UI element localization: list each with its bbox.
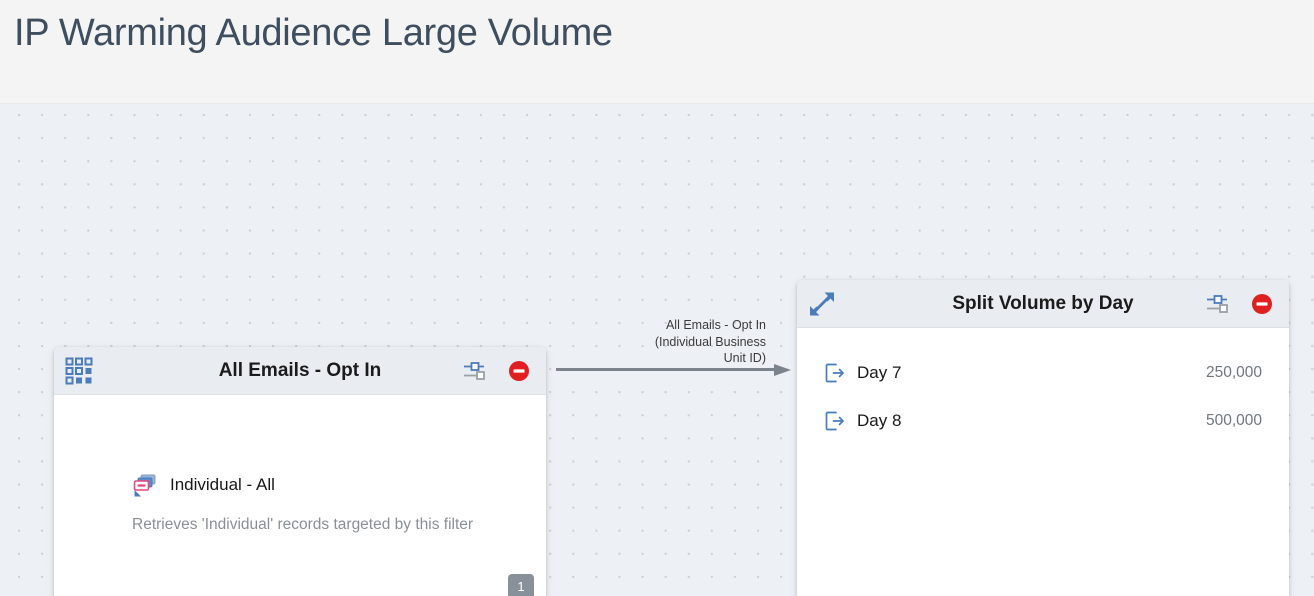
connector-line [556,368,778,371]
node-header-audience: All Emails - Opt In [54,347,546,395]
exit-box-icon [824,362,846,384]
list-item[interactable]: Day 8 500,000 [797,397,1289,445]
exit-box-icon [824,410,846,432]
sliders-icon[interactable] [1206,293,1230,315]
split-row-name: Day 7 [857,363,901,383]
expand-arrows-icon[interactable] [807,289,837,319]
data-extension-row[interactable]: Individual - All [132,473,275,497]
split-row-value: 500,000 [1206,412,1262,430]
node-card-split[interactable]: Split Volume by Day [797,280,1289,596]
list-item[interactable]: Day 7 250,000 [797,349,1289,397]
sliders-icon[interactable] [463,360,487,382]
page-header: IP Warming Audience Large Volume [0,0,1314,104]
connector-label-line-1: All Emails - Opt In [606,317,766,334]
connector-label-line-3: Unit ID) [606,350,766,367]
connector-label-line-2: (Individual Business [606,334,766,351]
split-row-name: Day 8 [857,411,901,431]
connector-arrowhead [774,364,791,376]
remove-circle-icon[interactable] [508,360,530,382]
node-body-audience: Individual - All Retrieves 'Individual' … [54,395,546,596]
node-card-audience[interactable]: All Emails - Opt In [54,347,546,596]
count-badge: 1 [508,574,534,596]
node-header-split: Split Volume by Day [797,280,1289,328]
data-extension-description: Retrieves 'Individual' records targeted … [132,516,473,534]
split-row-value: 250,000 [1206,364,1262,382]
node-body-split: Day 7 250,000 Day 8 500,000 1 [797,328,1289,596]
grid-squares-icon[interactable] [64,356,94,386]
data-extension-label: Individual - All [170,475,275,495]
data-extension-icon [132,473,158,497]
split-rows-list: Day 7 250,000 Day 8 500,000 [797,328,1289,445]
page-title: IP Warming Audience Large Volume [14,12,613,55]
remove-circle-icon[interactable] [1251,293,1273,315]
connector-label: All Emails - Opt In (Individual Business… [606,317,766,367]
journey-canvas[interactable]: All Emails - Opt In (Individual Business… [0,104,1314,596]
